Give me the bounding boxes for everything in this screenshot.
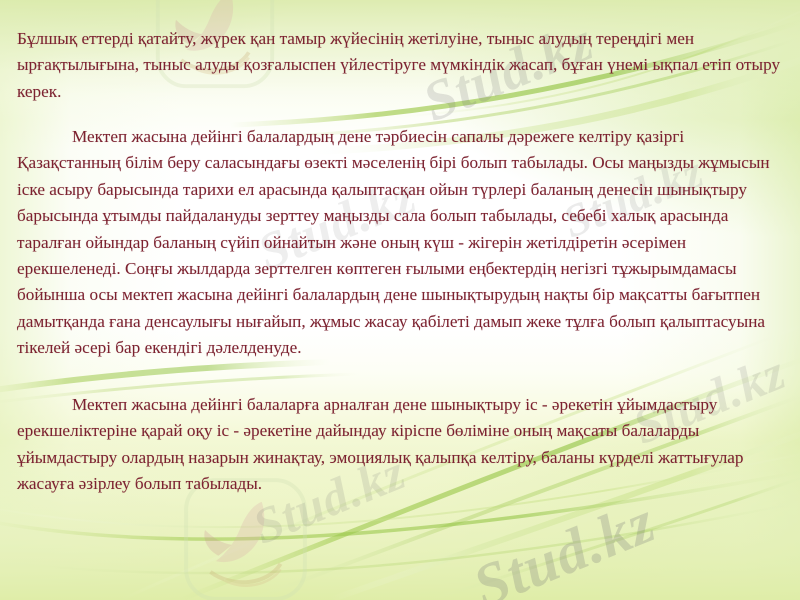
paragraph-1: Бұлшық еттерді қатайту, жүрек қан тамыр … — [17, 26, 789, 105]
paragraph-3: Мектеп жасына дейінгі балаларға арналған… — [17, 392, 789, 498]
paragraph-2: Мектеп жасына дейінгі балалардың дене тә… — [17, 124, 789, 362]
slide-canvas: Stud.kz Stud.kz Stud.kz Stud.kz Stud.kz … — [0, 0, 800, 600]
document-body: Бұлшық еттерді қатайту, жүрек қан тамыр … — [0, 0, 800, 600]
